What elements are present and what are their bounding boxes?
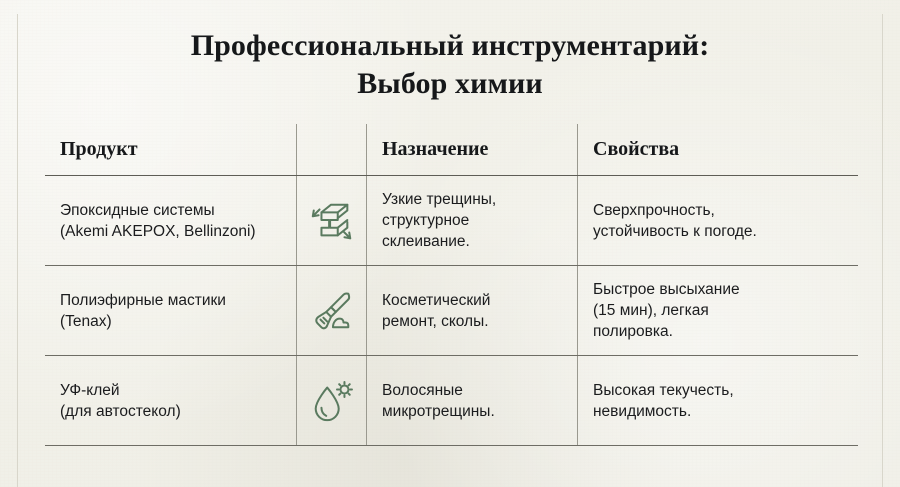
purpose-line-2: ремонт, сколы. (382, 311, 490, 332)
column-header-properties-label: Свойства (593, 138, 679, 161)
cell-product: УФ-клей (для автостекол) (45, 356, 296, 445)
cell-icon (296, 176, 366, 265)
properties-line-3: полировка. (593, 321, 740, 342)
cell-properties: Высокая текучесть, невидимость. (577, 356, 858, 445)
table-row: УФ-клей (для автостекол) (45, 356, 858, 445)
cell-purpose: Узкие трещины, структурное склеивание. (366, 176, 577, 265)
column-header-purpose-label: Назначение (382, 138, 488, 161)
column-header-properties: Свойства (577, 124, 858, 175)
paintbrush-putty-icon (309, 288, 355, 334)
page-title: Профессиональный инструментарий: Выбор х… (0, 27, 900, 103)
product-name-line-2: (Akemi AKEPOX, Bellinzoni) (60, 221, 256, 242)
cell-product: Полиэфирные мастики (Tenax) (45, 266, 296, 355)
table-row: Эпоксидные системы (Akemi AKEPOX, Bellin… (45, 176, 858, 265)
cell-properties: Сверхпрочность, устойчивость к погоде. (577, 176, 858, 265)
purpose-line-1: Узкие трещины, (382, 189, 496, 210)
purpose-line-2: структурное (382, 210, 496, 231)
steel-beam-expand-icon (309, 198, 355, 244)
page-title-line-1: Профессиональный инструментарий: (191, 29, 710, 62)
product-name-line-1: УФ-клей (60, 380, 181, 401)
page-title-line-2: Выбор химии (0, 65, 900, 103)
infographic-page: Профессиональный инструментарий: Выбор х… (0, 0, 900, 487)
cell-icon (296, 356, 366, 445)
cell-icon (296, 266, 366, 355)
properties-line-1: Сверхпрочность, (593, 200, 757, 221)
purpose-line-1: Волосяные (382, 380, 495, 401)
product-name-line-1: Полиэфирные мастики (60, 290, 226, 311)
purpose-line-3: склеивание. (382, 231, 496, 252)
product-name-line-2: (для автостекол) (60, 401, 181, 422)
uv-droplet-sun-icon (309, 378, 355, 424)
column-header-product-label: Продукт (60, 138, 138, 161)
properties-line-2: устойчивость к погоде. (593, 221, 757, 242)
column-header-purpose: Назначение (366, 124, 577, 175)
table-bottom-rule (45, 445, 858, 446)
column-header-icon (296, 124, 366, 175)
purpose-line-1: Косметический (382, 290, 490, 311)
properties-line-1: Быстрое высыхание (593, 279, 740, 300)
properties-line-1: Высокая текучесть, (593, 380, 734, 401)
column-header-product: Продукт (45, 124, 296, 175)
purpose-line-2: микротрещины. (382, 401, 495, 422)
cell-product: Эпоксидные системы (Akemi AKEPOX, Bellin… (45, 176, 296, 265)
table-row: Полиэфирные мастики (Tenax) (45, 266, 858, 355)
product-name-line-1: Эпоксидные системы (60, 200, 256, 221)
product-name-line-2: (Tenax) (60, 311, 226, 332)
cell-purpose: Косметический ремонт, сколы. (366, 266, 577, 355)
chemistry-comparison-table: Продукт Назначение Свойства Эпоксидные с… (45, 124, 858, 446)
properties-line-2: невидимость. (593, 401, 734, 422)
cell-purpose: Волосяные микротрещины. (366, 356, 577, 445)
table-header-row: Продукт Назначение Свойства (45, 124, 858, 175)
cell-properties: Быстрое высыхание (15 мин), легкая полир… (577, 266, 858, 355)
properties-line-2: (15 мин), легкая (593, 300, 740, 321)
